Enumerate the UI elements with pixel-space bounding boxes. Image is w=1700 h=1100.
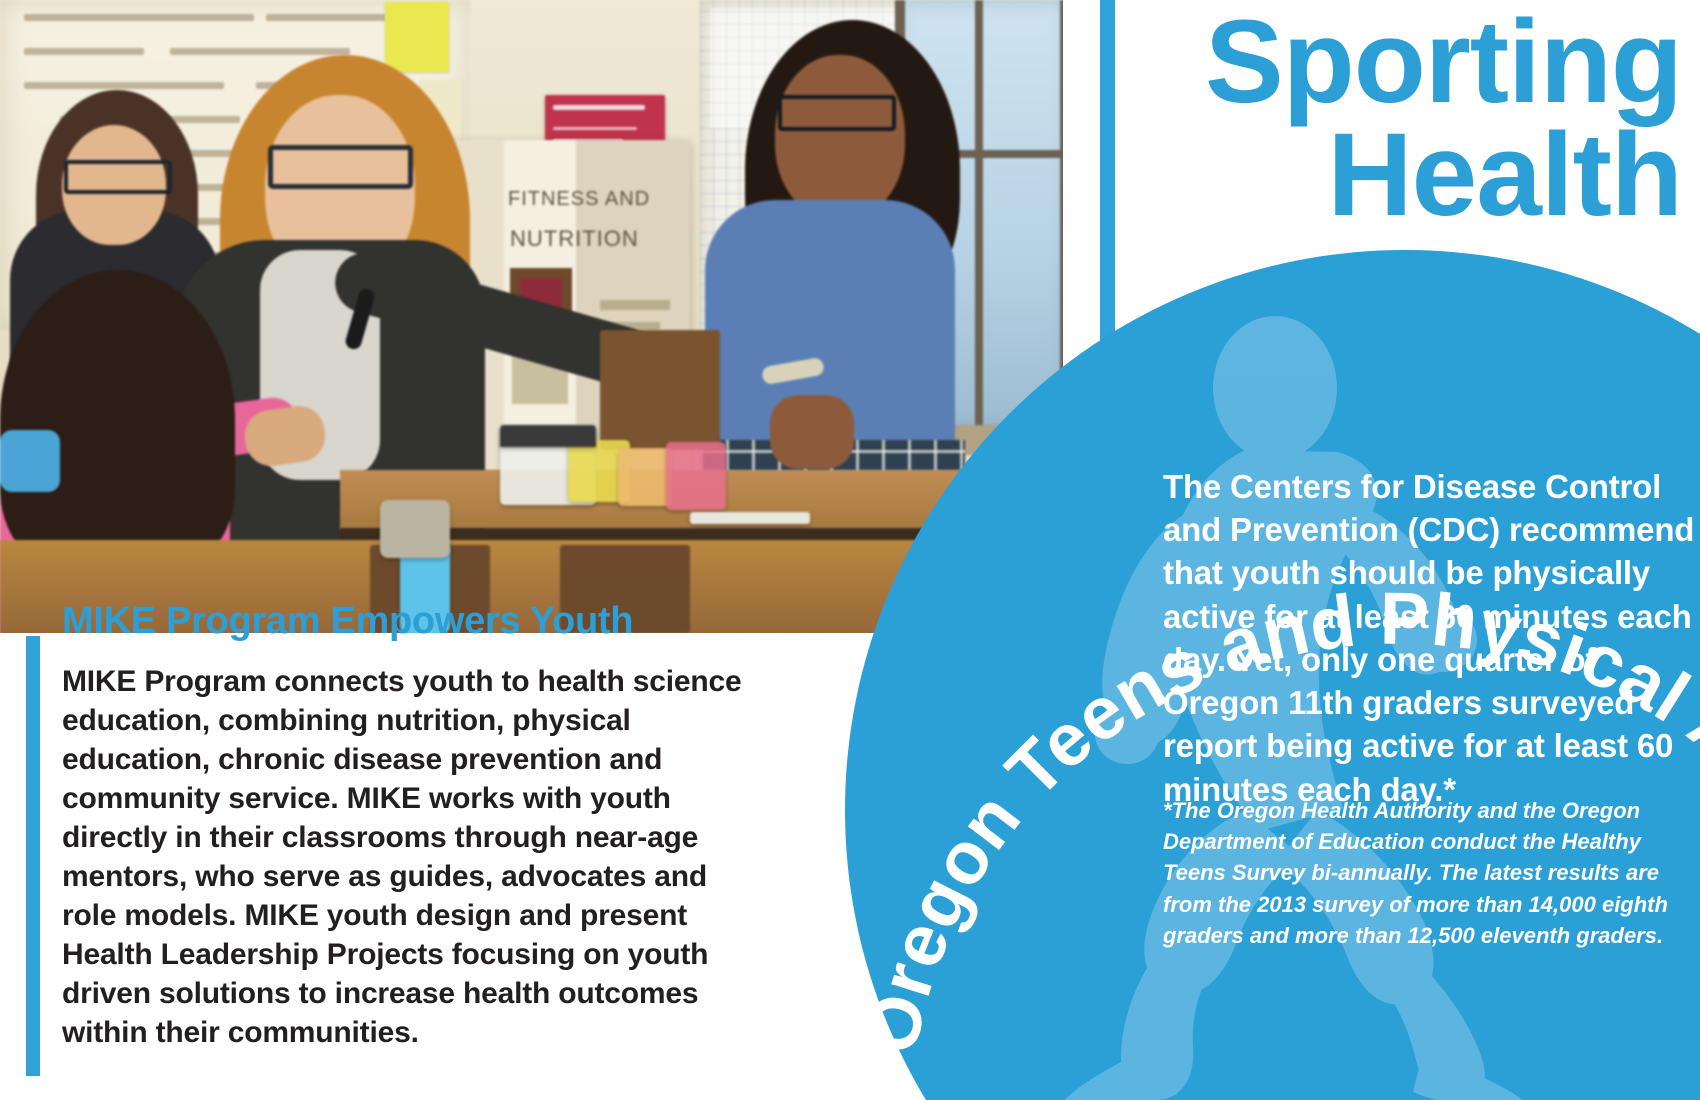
photo-food-container-3 <box>618 448 672 506</box>
survey-footnote: *The Oregon Health Authority and the Ore… <box>1163 795 1688 951</box>
left-accent-bar <box>26 636 40 1076</box>
photo-pen-on-table <box>690 512 810 524</box>
flyer-page: FS FITNESS AND NUTRITION <box>0 0 1700 1100</box>
cdc-statement: The Centers for Disease Control and Prev… <box>1163 465 1700 811</box>
photo-food-container-4 <box>666 442 726 510</box>
photo-bag <box>380 500 450 558</box>
sticky-note-1 <box>385 2 449 72</box>
page-title: Sporting Health <box>1075 0 1700 250</box>
classroom-photo: FS FITNESS AND NUTRITION <box>0 0 1063 633</box>
photo-chair-3 <box>600 330 720 450</box>
title-line-health: Health <box>1075 119 1700 232</box>
article-body: MIKE Program connects youth to health sc… <box>62 662 762 1052</box>
photo-container-lid <box>500 425 596 447</box>
title-line-sporting: Sporting <box>1075 0 1700 119</box>
article-heading: MIKE Program Empowers Youth <box>62 600 782 643</box>
